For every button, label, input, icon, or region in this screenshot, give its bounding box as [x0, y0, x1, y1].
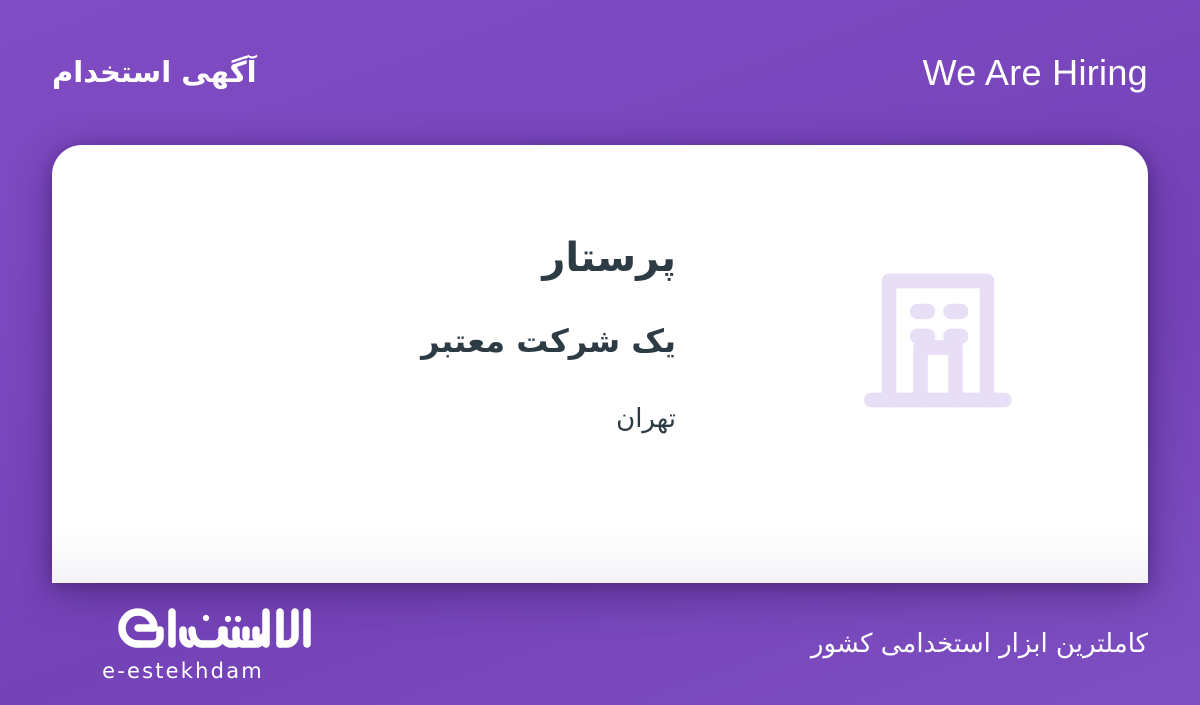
header-title-en: We Are Hiring	[923, 55, 1148, 91]
company-logo-area	[728, 145, 1148, 421]
job-city: تهران	[52, 403, 676, 437]
building-icon	[854, 253, 1022, 421]
footer-tagline: کاملترین ابزار استخدامی کشور	[811, 631, 1148, 657]
banner-header: آگهی استخدام We Are Hiring	[0, 0, 1200, 145]
job-card-info: پرستار یک شرکت معتبر تهران	[52, 145, 728, 436]
job-card: پرستار یک شرکت معتبر تهران	[52, 145, 1148, 583]
e-estekhdam-wordmark-icon	[52, 606, 314, 652]
job-title: پرستار	[52, 233, 676, 283]
job-ad-banner: آگهی استخدام We Are Hiring پرستار یک شرک…	[0, 0, 1200, 705]
brand-logo: e-estekhdam	[52, 606, 314, 682]
header-title-fa: آگهی استخدام	[52, 58, 257, 87]
brand-latin-label: e-estekhdam	[102, 661, 264, 682]
company-name: یک شرکت معتبر	[52, 321, 676, 363]
banner-footer: e-estekhdam کاملترین ابزار استخدامی کشور	[0, 583, 1200, 705]
